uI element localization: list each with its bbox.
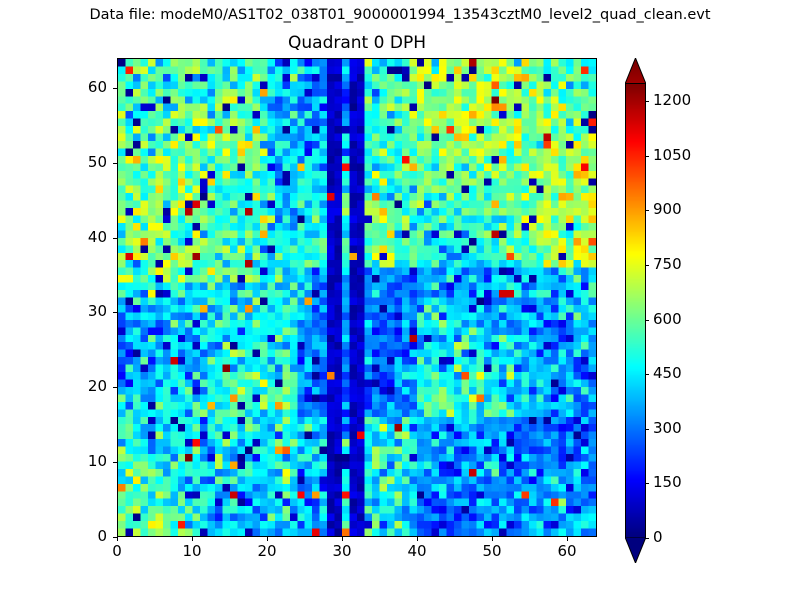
- colorbar-extend-max-arrow: [625, 58, 646, 84]
- x-tick-label: 40: [387, 543, 447, 560]
- x-tick-label: 50: [462, 543, 522, 560]
- colorbar-gradient-bar[interactable]: [625, 83, 646, 538]
- x-tick-label: 30: [312, 543, 372, 560]
- y-tick-mark: [113, 238, 117, 239]
- colorbar-tick-mark: [645, 156, 649, 157]
- x-tick-mark: [192, 537, 193, 541]
- x-tick-label: 20: [237, 543, 297, 560]
- x-tick-mark: [417, 537, 418, 541]
- colorbar-tick-mark: [645, 483, 649, 484]
- y-tick-label: 50: [51, 154, 107, 171]
- figure-canvas: Data file: modeM0/AS1T02_038T01_90000019…: [0, 0, 800, 600]
- x-tick-mark: [342, 537, 343, 541]
- y-tick-label: 20: [51, 378, 107, 395]
- x-tick-label: 10: [162, 543, 222, 560]
- colorbar-tick-label: 300: [653, 420, 682, 437]
- x-tick-label: 0: [87, 543, 147, 560]
- y-tick-label: 40: [51, 229, 107, 246]
- plot-title: Quadrant 0 DPH: [117, 32, 597, 54]
- colorbar-tick-mark: [645, 429, 649, 430]
- y-tick-mark: [113, 387, 117, 388]
- heatmap-axes[interactable]: [117, 58, 597, 537]
- y-tick-label: 60: [51, 79, 107, 96]
- y-tick-label: 10: [51, 453, 107, 470]
- colorbar-tick-label: 450: [653, 365, 682, 382]
- colorbar-tick-label: 1200: [653, 92, 691, 109]
- colorbar-tick-label: 0: [653, 529, 663, 546]
- detector-heatmap-image[interactable]: [118, 59, 596, 536]
- y-tick-label: 30: [51, 303, 107, 320]
- colorbar-tick-mark: [645, 265, 649, 266]
- colorbar-tick-mark: [645, 538, 649, 539]
- colorbar-tick-label: 150: [653, 474, 682, 491]
- x-tick-mark: [567, 537, 568, 541]
- x-tick-label: 60: [537, 543, 597, 560]
- data-file-suptitle: Data file: modeM0/AS1T02_038T01_90000019…: [0, 6, 800, 24]
- colorbar-tick-mark: [645, 101, 649, 102]
- colorbar-tick-mark: [645, 320, 649, 321]
- colorbar-tick-label: 600: [653, 311, 682, 328]
- colorbar-tick-label: 750: [653, 256, 682, 273]
- colorbar-extend-min-arrow: [625, 537, 646, 563]
- y-tick-mark: [113, 88, 117, 89]
- y-tick-mark: [113, 163, 117, 164]
- x-tick-mark: [267, 537, 268, 541]
- colorbar-tick-label: 1050: [653, 147, 691, 164]
- colorbar-gradient-canvas: [626, 84, 645, 537]
- x-tick-mark: [492, 537, 493, 541]
- colorbar-tick-mark: [645, 374, 649, 375]
- colorbar-tick-mark: [645, 210, 649, 211]
- colorbar-tick-label: 900: [653, 201, 682, 218]
- y-tick-label: 0: [51, 528, 107, 545]
- y-tick-mark: [113, 312, 117, 313]
- y-tick-mark: [113, 537, 117, 538]
- colorbar[interactable]: [625, 58, 646, 538]
- x-tick-mark: [117, 537, 118, 541]
- y-tick-mark: [113, 462, 117, 463]
